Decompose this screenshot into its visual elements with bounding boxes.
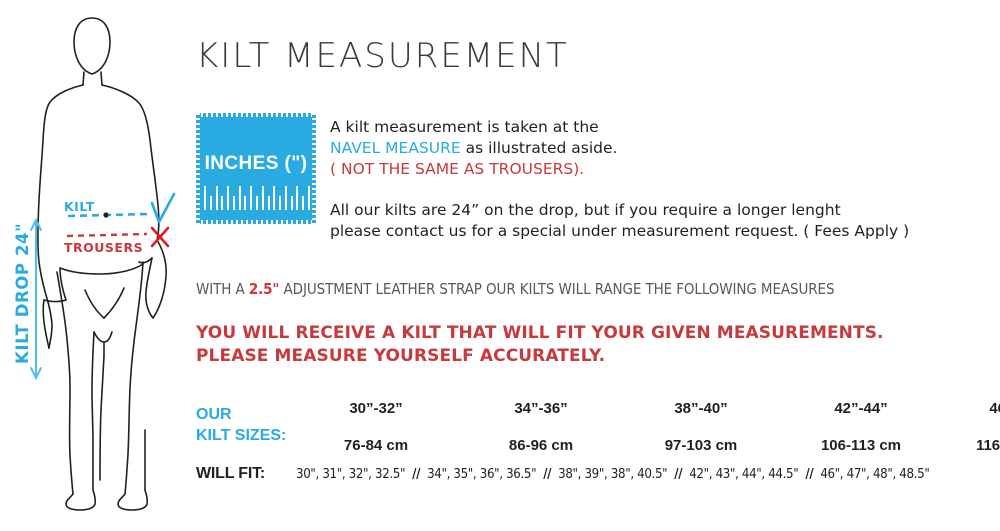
ruler-tick: [296, 186, 298, 210]
will-fit-separator: //: [667, 467, 689, 482]
ruler-tick: [227, 186, 229, 210]
strap-before: WITH A: [196, 280, 249, 298]
warning-line2: PLEASE MEASURE YOURSELF ACCURATELY.: [196, 345, 884, 368]
will-fit-separator: //: [405, 467, 427, 482]
ruler-tick: [244, 196, 246, 210]
ruler-tick: [204, 186, 206, 210]
size-cm: 86-96 cm: [466, 437, 616, 454]
size-column: 30”-32”76-84 cm: [301, 400, 451, 454]
size-cm: 106-113 cm: [786, 437, 936, 454]
will-fit-group: 46", 47", 48", 48.5": [820, 467, 929, 482]
size-inches: 30”-32”: [301, 400, 451, 417]
will-fit-label: WILL FIT:: [196, 465, 265, 483]
size-column: 38”-40”97-103 cm: [626, 400, 776, 454]
ruler-tick: [279, 196, 281, 210]
kilt-sizes-header-line1: OUR: [196, 404, 306, 425]
para1-line2-rest: as illustrated aside.: [461, 139, 618, 157]
para1-line1: A kilt measurement is taken at the: [330, 117, 617, 138]
size-column: 34”-36”86-96 cm: [466, 400, 616, 454]
para1-line2: NAVEL MEASURE as illustrated aside.: [330, 138, 617, 159]
size-inches: 42”-44”: [786, 400, 936, 417]
will-fit-group: 42", 43", 44", 44.5": [689, 467, 798, 482]
ruler-edge-top: [196, 113, 316, 117]
trousers-measure-line: [67, 234, 147, 236]
ruler-tick: [291, 196, 293, 210]
kilt-line-label: KILT: [64, 199, 95, 214]
strap-adjustment-line: WITH A 2.5" ADJUSTMENT LEATHER STRAP OUR…: [196, 280, 834, 298]
will-fit-group: 38", 39", 38", 40.5": [558, 467, 667, 482]
ruler-tick: [239, 186, 241, 210]
size-column: 42”-44”106-113 cm: [786, 400, 936, 454]
body-figure-illustration: KILT TROUSERS KILT DROP 24": [0, 0, 200, 531]
strap-highlight: 2.5": [249, 280, 280, 298]
ruler-tick: [221, 196, 223, 210]
will-fit-separator: //: [798, 467, 820, 482]
size-inches: 34”-36”: [466, 400, 616, 417]
ruler-tick: [262, 186, 264, 210]
size-inches: 46”-48”: [941, 400, 1000, 417]
navel-measure-paragraph: A kilt measurement is taken at the NAVEL…: [330, 117, 617, 180]
kilt-sizes-row-header: OUR KILT SIZES:: [196, 404, 306, 446]
ruler-tick: [256, 196, 258, 210]
ruler-tick: [268, 196, 270, 210]
cross-icon: [152, 228, 168, 246]
ruler-tick: [233, 196, 235, 210]
size-inches: 38”-40”: [626, 400, 776, 417]
warning-line1: YOU WILL RECEIVE A KILT THAT WILL FIT YO…: [196, 322, 884, 345]
accuracy-warning: YOU WILL RECEIVE A KILT THAT WILL FIT YO…: [196, 322, 884, 368]
strap-after: ADJUSTMENT LEATHER STRAP OUR KILTS WILL …: [279, 280, 834, 298]
will-fit-group: 34", 35", 36", 36.5": [427, 467, 536, 482]
ruler-tick: [216, 186, 218, 210]
para2-line2: please contact us for a special under me…: [330, 221, 930, 242]
ruler-ticks: [204, 182, 308, 210]
ruler-tick: [302, 196, 304, 210]
ruler-tick: [210, 196, 212, 210]
will-fit-separator: //: [536, 467, 558, 482]
trousers-line-label: TROUSERS: [64, 240, 143, 255]
ruler-tick: [308, 186, 310, 210]
page-title: KILT MEASUREMENT: [196, 36, 569, 76]
size-cm: 97-103 cm: [626, 437, 776, 454]
ruler-tick: [250, 186, 252, 210]
kilt-drop-arrow: [31, 220, 41, 378]
kilt-sizes-header-line2: KILT SIZES:: [196, 425, 306, 446]
para1-line3-warning: ( NOT THE SAME AS TROUSERS).: [330, 159, 617, 180]
will-fit-values: 30", 31", 32", 32.5"//34", 35", 36", 36.…: [296, 467, 929, 482]
check-icon: [152, 194, 174, 222]
will-fit-group: 30", 31", 32", 32.5": [296, 467, 405, 482]
inches-ruler-box: INCHES ("): [196, 113, 316, 224]
navel-measure-highlight: NAVEL MEASURE: [330, 139, 461, 157]
drop-length-paragraph: All our kilts are 24” on the drop, but i…: [330, 200, 930, 242]
ruler-edge-bottom: [196, 220, 316, 224]
size-cm: 76-84 cm: [301, 437, 451, 454]
kilt-measurement-infographic: KILT TROUSERS KILT DROP 24" KILT MEASURE…: [0, 0, 1000, 531]
ruler-tick: [273, 186, 275, 210]
para2-line1: All our kilts are 24” on the drop, but i…: [330, 200, 930, 221]
size-column: 46”-48”116-123 cm: [941, 400, 1000, 454]
ruler-tick: [285, 186, 287, 210]
male-body-outline-svg: KILT TROUSERS KILT DROP 24": [0, 0, 200, 531]
inches-label: INCHES ("): [196, 153, 316, 175]
kilt-drop-label: KILT DROP 24": [13, 223, 32, 364]
size-cm: 116-123 cm: [941, 437, 1000, 454]
